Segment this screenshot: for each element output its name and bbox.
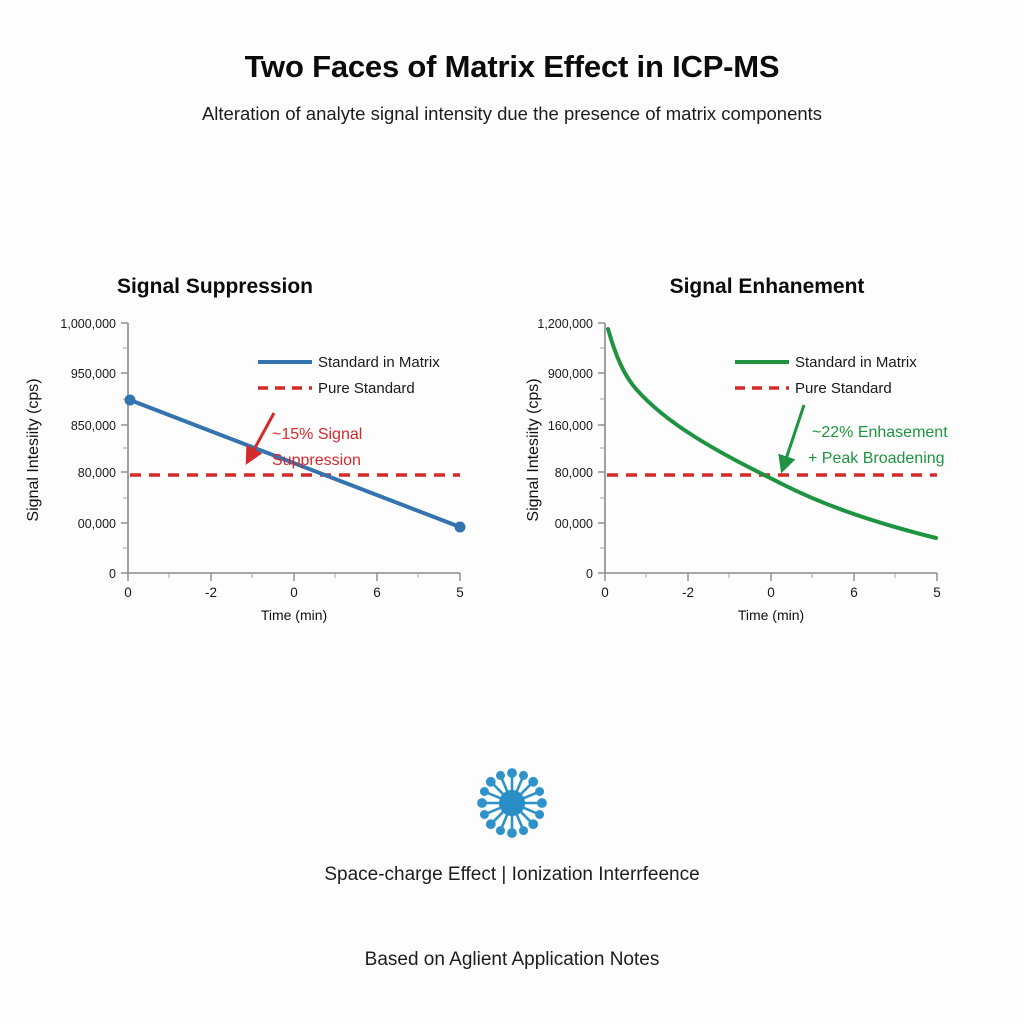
footer: Space-charge Effect | Ionization Interrf… — [0, 755, 1024, 972]
header: Two Faces of Matrix Effect in ICP-MS Alt… — [0, 48, 1024, 125]
footer-caption: Space-charge Effect | Ionization Interrf… — [0, 850, 1024, 887]
x-axis-ticks — [128, 573, 460, 581]
x-tick-label: 6 — [373, 585, 381, 600]
x-tick-label: 0 — [290, 585, 298, 600]
charts-row: Signal Suppression — [0, 275, 1024, 635]
plot-area-enhanement: 1,200,000 900,000 160,000 80,000 00,000 … — [512, 305, 1012, 635]
plot-area-suppression: 1,000,000 950,000 850,000 80,000 00,000 … — [10, 305, 510, 635]
y-tick-label: 160,000 — [548, 419, 593, 433]
y-tick-label: 900,000 — [548, 367, 593, 381]
y-axis-title: Signal Intesiity (cps) — [25, 378, 42, 521]
y-tick-label: 850,000 — [71, 419, 116, 433]
y-tick-label: 0 — [586, 567, 593, 581]
legend-label-pure-standard: Pure Standard — [318, 380, 415, 397]
legend-label-standard-in-matrix: Standard in Matrix — [318, 354, 440, 371]
y-axis-title: Signal Intesiity (cps) — [525, 378, 542, 521]
x-tick-label: 6 — [850, 585, 858, 600]
chart-title-suppression: Signal Suppression — [50, 275, 380, 299]
enhanement-svg: 1,200,000 900,000 160,000 80,000 00,000 … — [512, 305, 1012, 635]
infographic-canvas: Two Faces of Matrix Effect in ICP-MS Alt… — [0, 0, 1024, 1024]
y-tick-label: 0 — [109, 567, 116, 581]
y-tick-label: 1,200,000 — [537, 317, 593, 331]
annotation-suppression: ~15% Signal Suppression — [250, 413, 362, 469]
x-tick-label: 5 — [456, 585, 464, 600]
chart-title-enhanement: Signal Enhanement — [592, 275, 942, 299]
data-point-marker-start — [125, 395, 136, 406]
annotation-line-2: Suppression — [272, 452, 361, 469]
annotation-enhanement: ~22% Enhasement + Peak Broadening — [784, 405, 948, 467]
y-tick-label: 950,000 — [71, 367, 116, 381]
x-tick-label: 0 — [601, 585, 609, 600]
annotation-line-2: + Peak Broadening — [808, 450, 945, 467]
y-tick-label: 00,000 — [555, 517, 593, 531]
data-point-marker-end — [455, 522, 466, 533]
plasma-core — [499, 790, 525, 816]
y-tick-label: 1,000,000 — [60, 317, 116, 331]
y-tick-label: 80,000 — [555, 466, 593, 480]
plasma-burst-icon — [472, 763, 552, 843]
x-tick-label: 0 — [124, 585, 132, 600]
legend-label-standard-in-matrix: Standard in Matrix — [795, 354, 917, 371]
y-tick-label: 80,000 — [78, 466, 116, 480]
x-tick-label: -2 — [205, 585, 217, 600]
annotation-line-1: ~22% Enhasement — [812, 424, 948, 441]
y-tick-label: 00,000 — [78, 517, 116, 531]
page-subtitle: Alteration of analyte signal intensity d… — [0, 85, 1024, 125]
chart-legend-suppression: Standard in Matrix Pure Standard — [258, 354, 440, 397]
footer-icon-wrap — [0, 755, 1024, 850]
legend-label-pure-standard: Pure Standard — [795, 380, 892, 397]
footer-source: Based on Aglient Application Notes — [0, 887, 1024, 972]
suppression-svg: 1,000,000 950,000 850,000 80,000 00,000 … — [10, 305, 510, 635]
annotation-line-1: ~15% Signal — [272, 426, 362, 443]
chart-legend-enhanement: Standard in Matrix Pure Standard — [735, 354, 917, 397]
x-tick-label: 0 — [767, 585, 775, 600]
x-tick-label: 5 — [933, 585, 941, 600]
x-axis-ticks — [605, 573, 937, 581]
x-tick-label: -2 — [682, 585, 694, 600]
x-axis-title: Time (min) — [261, 607, 327, 623]
x-axis-title: Time (min) — [738, 607, 804, 623]
chart-panel-signal-enhanement: Signal Enhanement — [512, 275, 1012, 635]
annotation-arrow-icon — [784, 405, 804, 465]
page-title: Two Faces of Matrix Effect in ICP-MS — [0, 48, 1024, 85]
chart-panel-signal-suppression: Signal Suppression — [10, 275, 510, 635]
